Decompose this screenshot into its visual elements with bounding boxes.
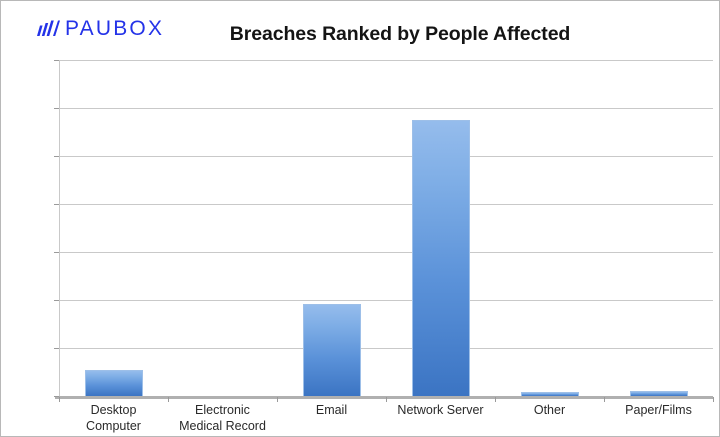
x-axis-labels: Desktop ComputerElectronic Medical Recor… [59,402,713,436]
x-axis-tick-label: Network Server [390,402,491,418]
x-axis-tick-label: Paper/Films [608,402,709,418]
y-axis-line [59,60,60,397]
y-tick-mark [54,156,59,157]
x-axis-tick-label: Email [281,402,382,418]
x-axis-tick-label: Other [499,402,600,418]
y-tick-mark [54,60,59,61]
gridline [59,108,713,109]
y-tick-mark [54,300,59,301]
gridline [59,156,713,157]
x-axis-tick-label: Desktop Computer [63,402,164,434]
x-tick-mark [713,397,714,402]
gridline [59,300,713,301]
bar [521,392,579,396]
gridline [59,60,713,61]
y-tick-mark [54,348,59,349]
gridline [59,204,713,205]
chart-header: PAUBOX Breaches Ranked by People Affecte… [1,1,720,57]
gridline [59,252,713,253]
bar [630,391,688,396]
bar [412,120,470,396]
bar [303,304,361,396]
plot-area [59,60,713,396]
gridline [59,348,713,349]
bar [85,370,143,396]
chart-title: Breaches Ranked by People Affected [1,23,720,46]
y-tick-mark [54,108,59,109]
y-tick-mark [54,204,59,205]
x-axis-tick-label: Electronic Medical Record [172,402,273,434]
y-tick-mark [54,252,59,253]
chart-screenshot: PAUBOX Breaches Ranked by People Affecte… [0,0,720,437]
